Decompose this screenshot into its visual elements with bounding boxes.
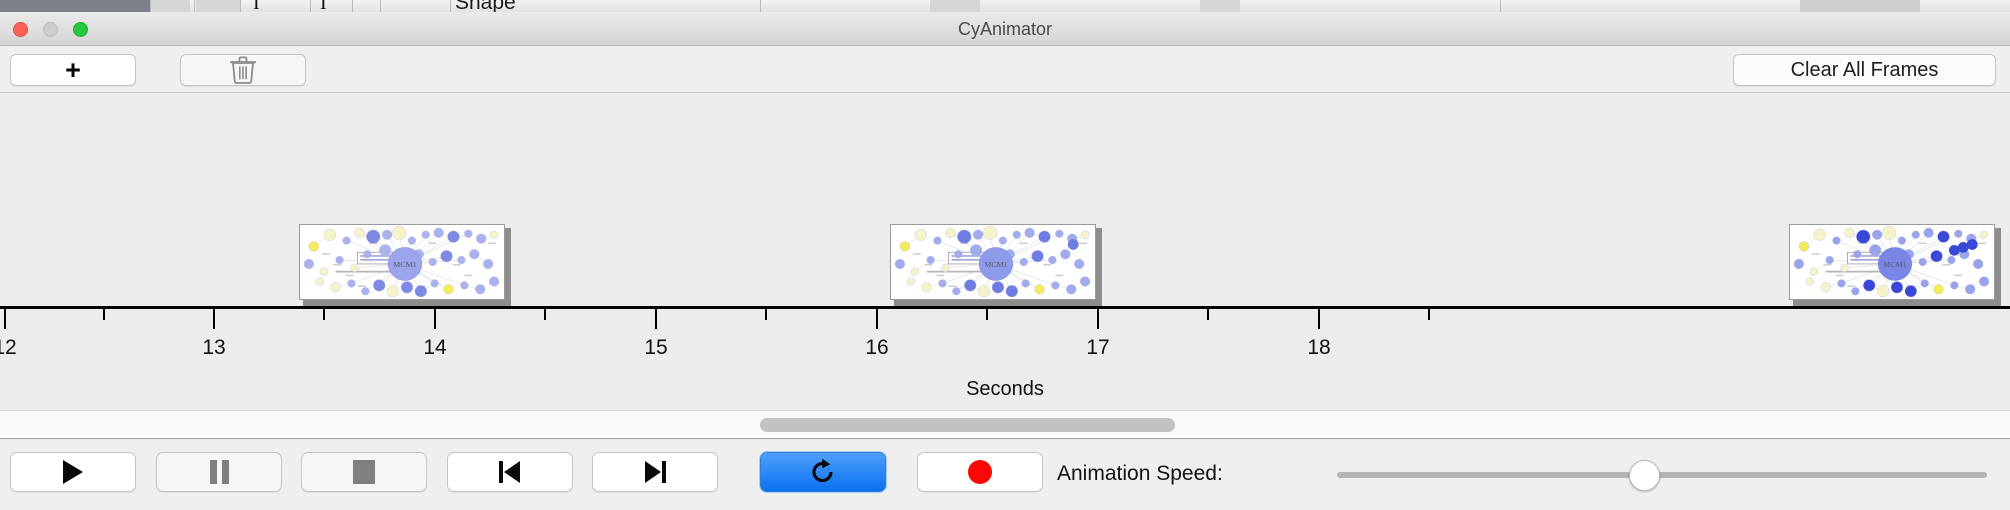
slider-track[interactable] [1337,472,1987,478]
axis-tick [655,309,657,329]
axis-tick [434,309,436,329]
pause-icon [210,460,229,484]
axis-tick [1097,309,1099,329]
axis-tick-label: 12 [0,336,46,360]
record-icon [968,460,992,484]
pause-button[interactable] [156,452,282,492]
axis-tick [1207,309,1209,320]
play-icon [63,460,83,484]
background-window-label: Shape [455,0,516,12]
loop-button[interactable] [760,452,886,492]
stop-icon [353,460,375,484]
axis-title: Seconds [0,378,2010,401]
toolbar: + Clear All Frames [0,46,2010,93]
clear-all-frames-label: Clear All Frames [1791,59,1939,82]
frame-network-preview: MCM1 [890,224,1096,300]
axis-tick [213,309,215,329]
frame-network-preview: MCM1 [1789,224,1995,300]
background-window-strip: I I Shape [0,0,2010,12]
minimize-button[interactable] [43,22,58,37]
axis-tick-label: 18 [1278,336,1360,360]
scrollbar-thumb[interactable] [760,418,1175,432]
skip-forward-button[interactable] [592,452,718,492]
delete-frame-button[interactable] [180,54,306,86]
axis-tick-label: 17 [1057,336,1139,360]
axis-tick [323,309,325,320]
close-button[interactable] [13,22,28,37]
frame-thumbnail-1[interactable]: MCM1 [299,224,511,306]
trash-icon [230,56,256,84]
frame-thumbnail-2[interactable]: MCM1 [890,224,1102,306]
axis-tick-label: 15 [615,336,697,360]
maximize-button[interactable] [73,22,88,37]
animation-speed-slider[interactable] [1337,472,1987,478]
cyanimator-window: I I Shape CyAnimator + Clear All Frames [0,0,2010,510]
background-tab [0,0,150,12]
transport-bar: Animation Speed: [0,440,2010,510]
window-title: CyAnimator [0,12,2010,46]
axis-tick-label: 16 [836,336,918,360]
svg-text:MCM1: MCM1 [984,260,1007,269]
svg-text:MCM1: MCM1 [393,260,416,269]
record-button[interactable] [917,452,1043,492]
slider-thumb[interactable] [1629,460,1660,491]
skip-back-button[interactable] [447,452,573,492]
timeline-panel[interactable]: MCM1 MCM1 MCM1 12131415161718 Seconds [0,93,2010,410]
animation-speed-label: Animation Speed: [1057,462,1223,486]
skip-forward-icon [643,460,667,484]
add-frame-button[interactable]: + [10,54,136,86]
frame-thumbnail-3[interactable]: MCM1 [1789,224,2001,306]
axis-tick [986,309,988,320]
axis-tick-label: 13 [173,336,255,360]
axis-tick-label: 14 [394,336,476,360]
title-bar: CyAnimator [0,12,2010,46]
axis-tick [103,309,105,320]
plus-icon: + [65,57,81,84]
loop-icon [808,457,838,487]
clear-all-frames-button[interactable]: Clear All Frames [1733,54,1996,86]
timeline-axis [0,306,2010,309]
axis-tick [1428,309,1430,320]
axis-tick [1318,309,1320,329]
frame-network-preview: MCM1 [299,224,505,300]
play-button[interactable] [10,452,136,492]
axis-tick [876,309,878,329]
axis-tick [4,309,6,329]
horizontal-scrollbar[interactable] [0,410,2010,439]
svg-text:MCM1: MCM1 [1883,260,1906,269]
skip-back-icon [498,460,522,484]
axis-tick [765,309,767,320]
stop-button[interactable] [301,452,427,492]
axis-tick [544,309,546,320]
